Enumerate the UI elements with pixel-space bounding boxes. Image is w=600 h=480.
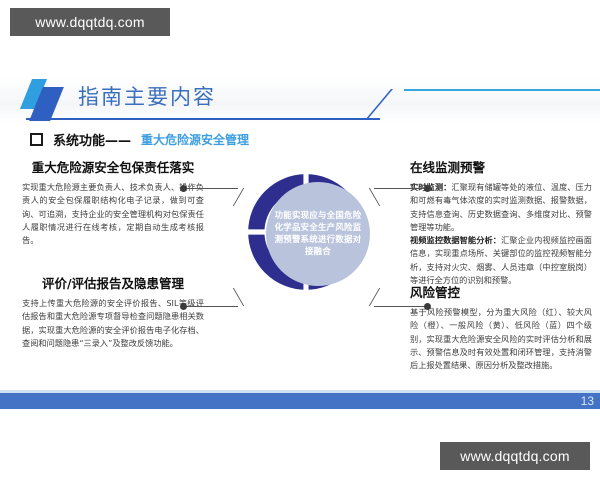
subtitle-main-text: 系统功能—— [53,130,131,149]
footer-bar: 13 [0,393,600,409]
connector-dot-bottom-right [424,303,431,310]
square-bullet-icon [30,133,43,146]
page-number: 13 [581,394,594,408]
watermark-bottom: www.dqqtdq.com [440,442,590,470]
connector-dot-top-left [180,185,187,192]
content-block-bottom-right: 风险管控 基于风险预警模型，分为重大风险（红）、较大风险（橙）、一般风险（黄）、… [410,282,592,372]
header-underline [26,118,380,120]
connector-top-left [178,184,256,206]
content-block-bottom-left: 评价/评估报告及隐患管理 支持上传重大危险源的安全评价报告、SIL等级评估报告和… [22,273,204,350]
block-title-top-right: 在线监测预警 [410,157,592,176]
slide-canvas: 指南主要内容 系统功能—— 重大危险源安全管理 重大危险源安全包保责任落实 实现… [0,60,600,410]
slide-header: 指南主要内容 [0,77,600,125]
subtitle-accent-text: 重大危险源安全管理 [141,131,249,148]
block-title-bottom-left: 评价/评估报告及隐患管理 [22,273,204,292]
connector-bottom-right [356,288,434,310]
block-title-bottom-right: 风险管控 [410,282,592,301]
block-title-top-left: 重大危险源安全包保责任落实 [22,157,204,176]
double-parallelogram-logo-icon [26,79,72,121]
watermark-top: www.dqqtdq.com [10,8,170,36]
block-body-bottom-right: 基于风险预警模型，分为重大风险（红）、较大风险（橙）、一般风险（黄）、低风险（蓝… [410,306,592,372]
block-body-bottom-left: 支持上传重大危险源的安全评价报告、SIL等级评估报告和重大危险源专项督导检查问题… [22,297,204,350]
center-circle-text: 功能实现应与全国危险化学品安全生产风险监测预警系统进行数据对接融合 [274,210,362,258]
connector-dot-bottom-left [180,303,187,310]
connector-dot-top-right [424,185,431,192]
block-lead-video-analysis: 视频监控数据智能分析： [410,235,501,245]
content-block-top-right: 在线监测预警 实时监测：汇聚现有储罐等处的液位、温度、压力和可燃有毒气体浓度的实… [410,157,592,287]
page-title: 指南主要内容 [78,81,216,111]
center-circle: 功能实现应与全国危险化学品安全生产风险监测预警系统进行数据对接融合 [266,182,370,286]
header-underline-right [404,89,600,91]
connector-bottom-left [178,288,256,310]
connector-top-right [356,184,434,206]
block-body-top-right: 实时监测：汇聚现有储罐等处的液位、温度、压力和可燃有毒气体浓度的实时监测数据、报… [410,181,592,287]
block-body-top-left: 实现重大危险源主要负责人、技术负责人、操作负责人的安全包保履职结构化电子记录，做… [22,181,204,247]
section-subtitle: 系统功能—— 重大危险源安全管理 [30,130,249,149]
content-block-top-left: 重大危险源安全包保责任落实 实现重大危险源主要负责人、技术负责人、操作负责人的安… [22,157,204,247]
